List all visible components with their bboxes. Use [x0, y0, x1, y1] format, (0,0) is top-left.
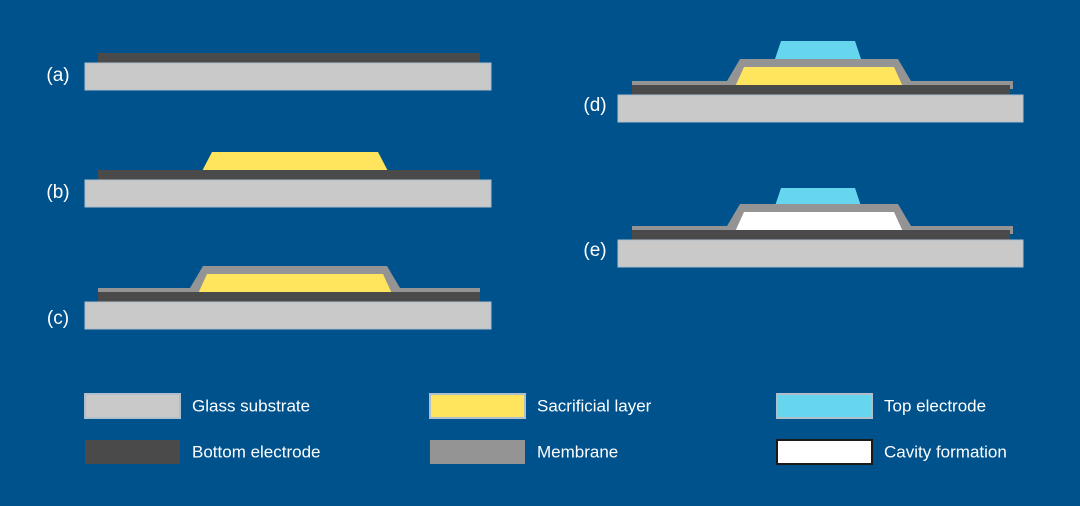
panel-c-glass-substrate	[85, 302, 491, 329]
legend-label-bottom-electrode: Bottom electrode	[192, 442, 321, 461]
panel-a: (a)	[46, 53, 491, 90]
legend-swatch-glass-substrate	[85, 394, 180, 418]
panel-a-label: (a)	[46, 65, 69, 86]
legend-swatch-top-electrode	[777, 394, 872, 418]
legend-swatch-bottom-electrode	[85, 440, 180, 464]
panel-d-top-electrode	[774, 41, 862, 62]
legend-item-sacrificial-layer: Sacrificial layer	[430, 394, 652, 418]
panel-d-label: (d)	[583, 95, 606, 116]
legend-swatch-sacrificial-layer	[430, 394, 525, 418]
legend-label-membrane: Membrane	[537, 442, 618, 461]
legend-label-glass-substrate: Glass substrate	[192, 396, 310, 415]
legend-item-membrane: Membrane	[430, 440, 618, 464]
panel-c-label: (c)	[47, 308, 69, 329]
panel-e-label: (e)	[583, 240, 606, 261]
legend-item-glass-substrate: Glass substrate	[85, 394, 310, 418]
panel-d-glass-substrate	[618, 95, 1023, 122]
legend-swatch-membrane	[430, 440, 525, 464]
panel-a-glass-substrate	[85, 63, 491, 90]
legend-label-sacrificial-layer: Sacrificial layer	[537, 396, 652, 415]
process-flow-figure: (a) (b) (c) (d) (e)	[0, 0, 1080, 506]
legend-item-cavity-formation: Cavity formation	[777, 440, 1007, 464]
panel-b-label: (b)	[46, 182, 69, 203]
legend-label-top-electrode: Top electrode	[884, 396, 986, 415]
panel-e-glass-substrate	[618, 240, 1023, 267]
legend-item-bottom-electrode: Bottom electrode	[85, 440, 321, 464]
legend-label-cavity-formation: Cavity formation	[884, 442, 1007, 461]
panel-b-glass-substrate	[85, 180, 491, 207]
legend-swatch-cavity-formation	[777, 440, 872, 464]
